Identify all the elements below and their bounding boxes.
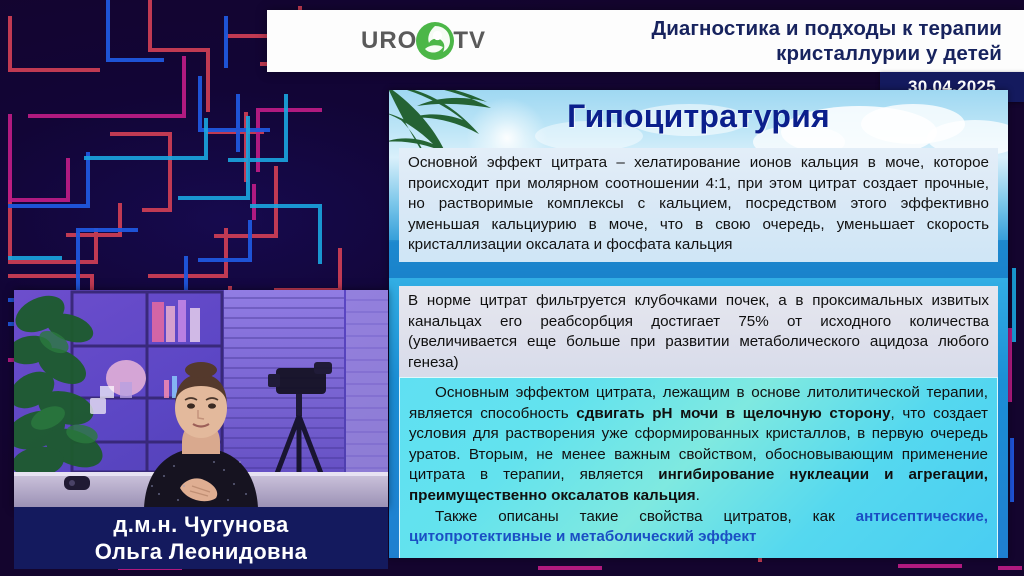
speaker-name-line-1: д.м.н. Чугунова (113, 511, 288, 538)
title-line-1: Диагностика и подходы к терапии (652, 17, 1003, 40)
broadcast-screen: URO TV Диагностика и подходы к терапии к… (0, 0, 1024, 576)
presentation-slide: Гипоцитратурия Основной эффект цитрата –… (389, 90, 1008, 558)
logo-text-uro: URO (361, 27, 417, 55)
slide-text-block-1: Основной эффект цитрата – хелатирование … (399, 148, 998, 262)
b3-p2-pre: Также описаны такие свойства цитратов, к… (435, 508, 856, 525)
block-3-paragraph-2: Также описаны такие свойства цитратов, к… (409, 507, 988, 548)
page-title: Диагностика и подходы к терапии кристалл… (486, 16, 1024, 66)
urotv-logo[interactable]: URO TV (361, 19, 486, 63)
title-line-2: кристаллурии у детей (486, 41, 1002, 66)
speaker-name-plate: д.м.н. Чугунова Ольга Леонидовна (14, 507, 388, 569)
block-1-text: Основной эффект цитрата – хелатирование … (408, 153, 989, 256)
b3-p1-end: . (696, 487, 700, 504)
slide-title: Гипоцитратурия (389, 98, 1008, 135)
speaker-name-line-2: Ольга Леонидовна (95, 538, 308, 565)
studio-background-illustration (14, 290, 388, 508)
b3-p1-bold-1: сдвигать рН мочи в щелочную сторону (576, 405, 890, 422)
block-2-text: В норме цитрат фильтруется клубочками по… (408, 291, 989, 373)
uro-tv-green-circle-logo-icon (413, 19, 457, 63)
block-3-paragraph-1: Основным эффектом цитрата, лежащим в осн… (409, 383, 988, 507)
slide-text-block-3: Основным эффектом цитрата, лежащим в осн… (399, 377, 998, 558)
logo-text-tv: TV (453, 27, 486, 55)
studio-scene (14, 290, 388, 508)
slide-text-block-2: В норме цитрат фильтруется клубочками по… (399, 286, 998, 379)
header-bar: URO TV Диагностика и подходы к терапии к… (267, 10, 1024, 72)
webcam-speaker-video[interactable] (14, 290, 388, 508)
